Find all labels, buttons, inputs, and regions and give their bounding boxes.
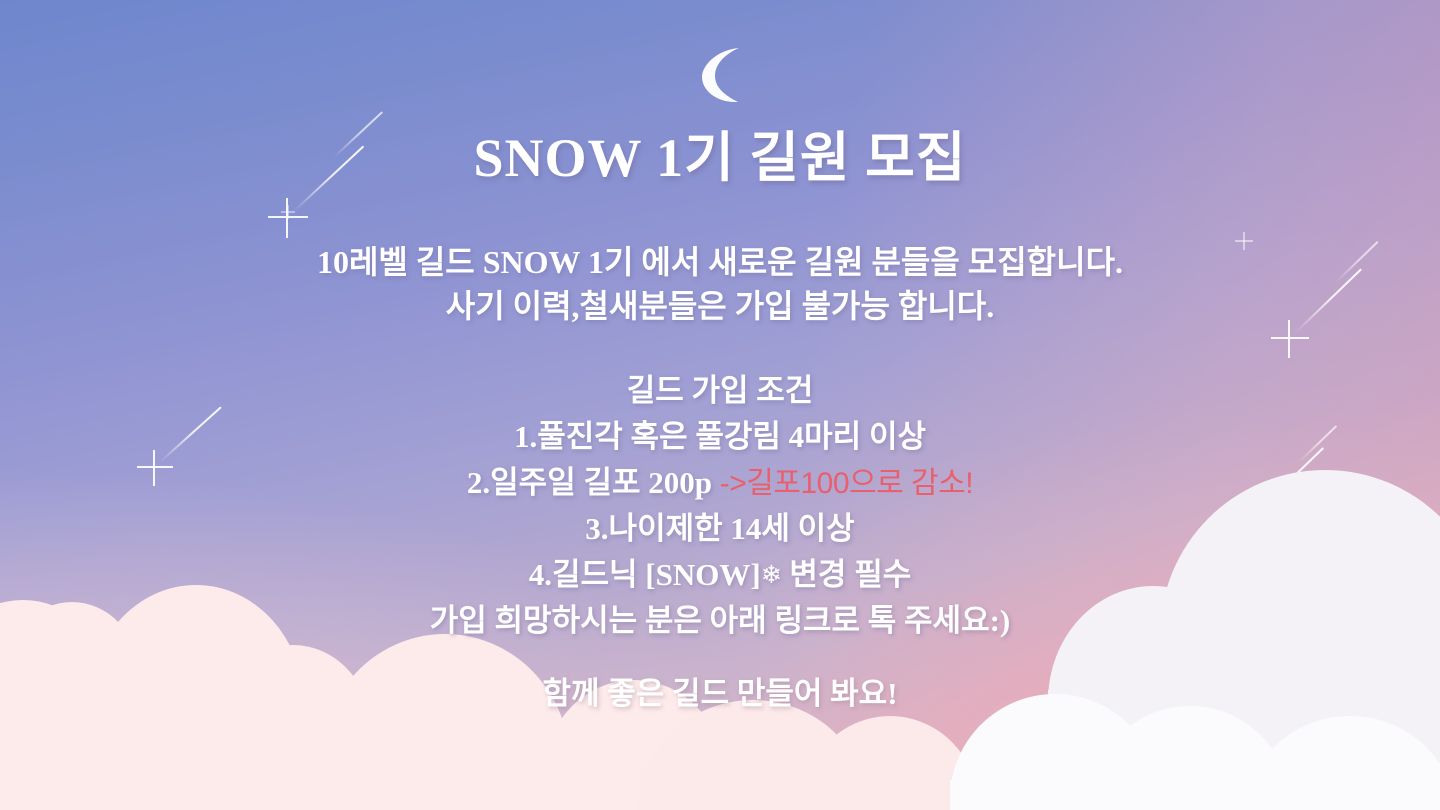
- conditions-heading: 길드 가입 조건: [0, 368, 1440, 414]
- condition-2-text: 2.일주일 길포 200p: [467, 465, 712, 500]
- intro-line-2: 사기 이력,철새분들은 가입 불가능 합니다.: [0, 284, 1440, 328]
- poster-copy: SNOW 1기 길원 모집 10레벨 길드 SNOW 1기 에서 새로운 길원 …: [0, 0, 1440, 810]
- conditions-block: 길드 가입 조건 1.풀진각 혹은 풀강림 4마리 이상 2.일주일 길포 20…: [0, 368, 1440, 644]
- condition-item-4: 4.길드닉 [SNOW]❄ 변경 필수: [0, 552, 1440, 598]
- page-title: SNOW 1기 길원 모집: [0, 130, 1440, 187]
- snowflake-icon: ❄: [761, 560, 782, 589]
- intro-line-1: 10레벨 길드 SNOW 1기 에서 새로운 길원 분들을 모집합니다.: [0, 240, 1440, 284]
- condition-item-1: 1.풀진각 혹은 풀강림 4마리 이상: [0, 414, 1440, 460]
- intro-paragraph: 10레벨 길드 SNOW 1기 에서 새로운 길원 분들을 모집합니다. 사기 …: [0, 240, 1440, 328]
- condition-4-suffix: 변경 필수: [782, 557, 912, 592]
- condition-4-text: 4.길드닉 [SNOW]: [529, 557, 761, 592]
- join-instruction: 가입 희망하시는 분은 아래 링크로 톡 주세요:): [0, 598, 1440, 644]
- closing-message: 함께 좋은 길드 만들어 봐요!: [0, 668, 1440, 713]
- condition-item-3: 3.나이제한 14세 이상: [0, 506, 1440, 552]
- condition-2-highlight: ->길포100으로 감소!: [720, 467, 973, 500]
- guild-recruitment-poster: SNOW 1기 길원 모집 10레벨 길드 SNOW 1기 에서 새로운 길원 …: [0, 0, 1440, 810]
- condition-item-2: 2.일주일 길포 200p ->길포100으로 감소!: [0, 460, 1440, 506]
